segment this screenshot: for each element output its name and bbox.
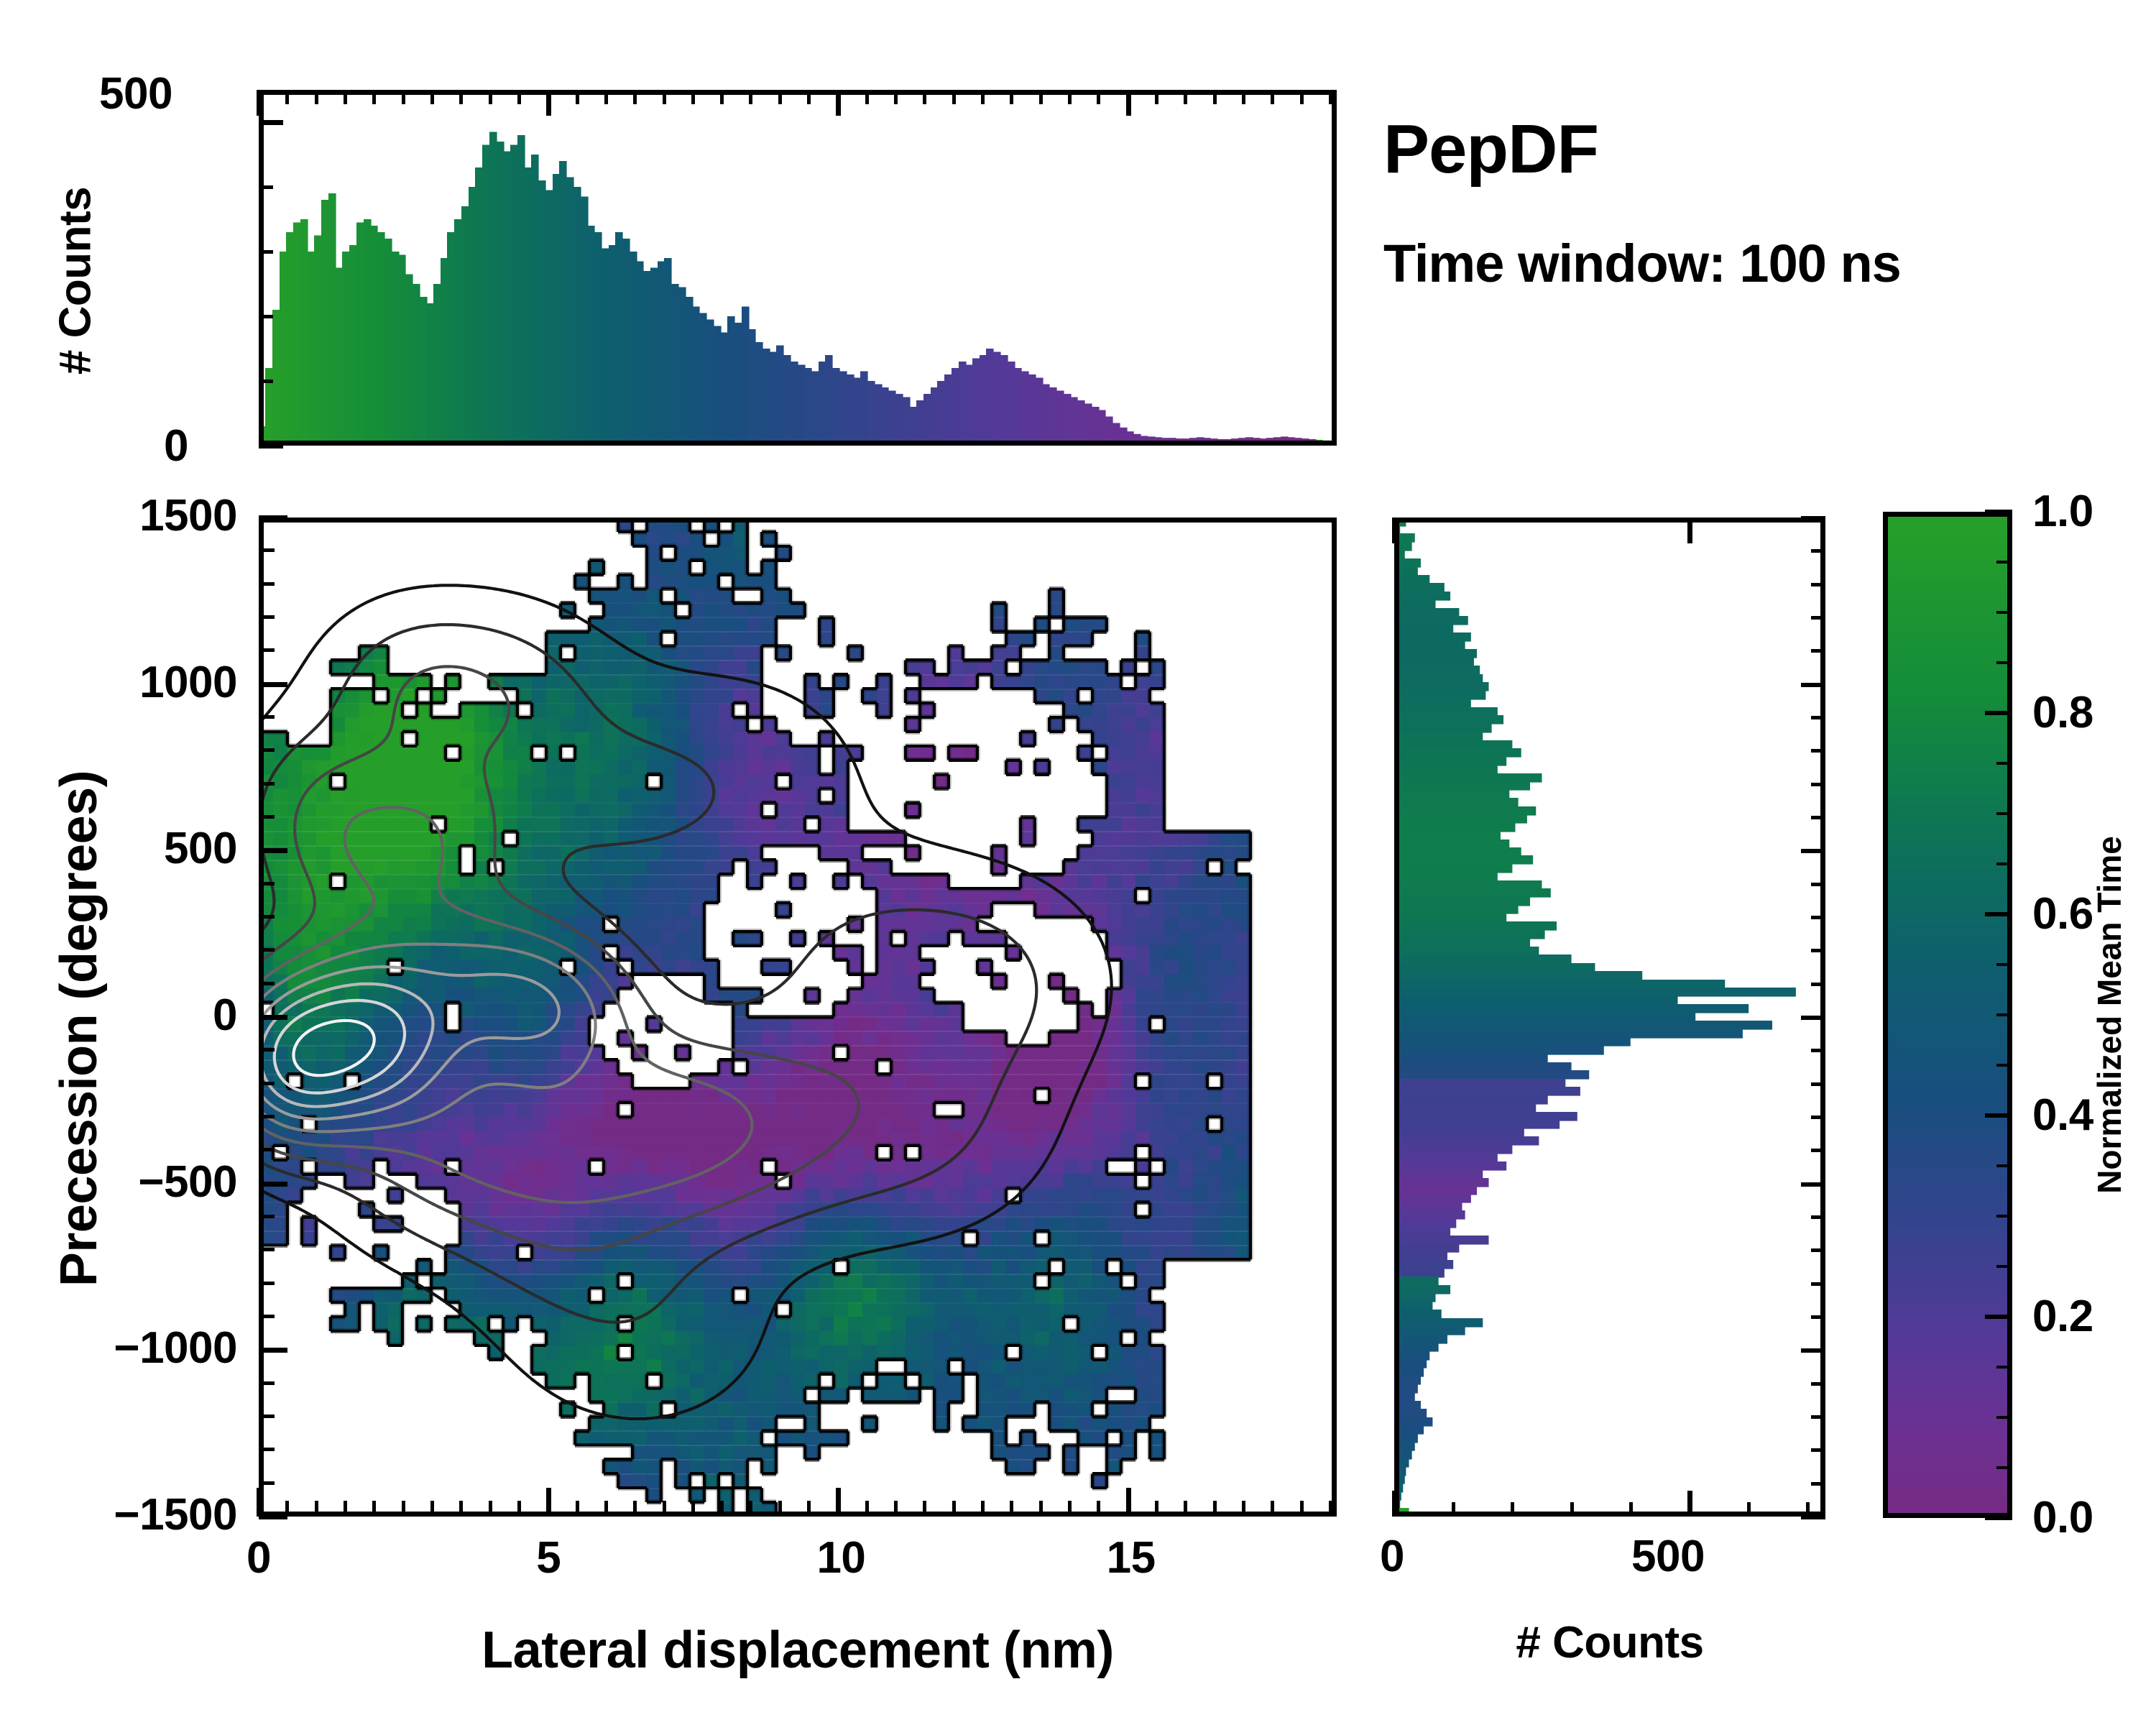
main-ytick-major — [259, 682, 287, 687]
main-xtick-minor — [894, 1501, 898, 1517]
top-panel-ylabel: # Counts — [50, 166, 101, 396]
top-ytick-minor — [259, 250, 273, 254]
right-xtick-major-top — [1687, 517, 1692, 543]
top-xtick-minor — [1271, 90, 1274, 104]
main-xtick-minor — [1010, 1501, 1013, 1517]
right-ytick-minor — [1811, 1315, 1825, 1319]
top-xtick-minor — [865, 90, 869, 104]
right-ytick-major — [1801, 683, 1825, 687]
main-xtick-minor — [1068, 1501, 1072, 1517]
main-ytick-minor — [259, 1248, 275, 1251]
colorbar-tick-minor — [1996, 1164, 2012, 1167]
top-xtick-minor — [1068, 90, 1072, 104]
colorbar-tick-label: 0.0 — [2032, 1492, 2093, 1543]
colorbar-tick-minor — [1996, 1215, 2012, 1218]
right-ytick-minor — [1811, 716, 1825, 719]
figure-root: 0 500 # Counts PepDF Time window: 100 ns… — [0, 0, 2156, 1725]
top-xtick-major — [257, 90, 262, 116]
main-ytick-minor — [259, 1048, 275, 1052]
right-xtick-minor — [1452, 1502, 1455, 1517]
colorbar-tick-minor — [1996, 1013, 2012, 1016]
right-panel-xlabel: # Counts — [1394, 1617, 1825, 1668]
top-xtick-minor — [749, 90, 752, 104]
colorbar-tick-label: 0.6 — [2032, 888, 2093, 939]
colorbar-tick-minor — [1996, 1265, 2012, 1268]
top-xtick-minor — [315, 90, 318, 104]
colorbar-tick-label: 0.2 — [2032, 1291, 2093, 1342]
main-xtick-minor — [517, 1501, 521, 1517]
main-xtick-label: 0 — [237, 1532, 280, 1583]
top-ytick-major — [259, 443, 283, 448]
main-xtick-minor — [691, 1501, 695, 1517]
right-ytick-minor — [1811, 783, 1825, 786]
right-ytick-major — [1801, 1348, 1825, 1353]
colorbar-tick-minor — [1996, 1064, 2012, 1067]
colorbar-label: Normalized Mean Time — [2090, 836, 2129, 1194]
colorbar-tick-minor — [1996, 661, 2012, 664]
colorbar-tick-label: 0.8 — [2032, 687, 2093, 738]
main-panel-ylabel: Precession (degrees) — [50, 489, 109, 1568]
top-xtick-minor — [1010, 90, 1013, 104]
top-histogram-canvas — [259, 90, 1337, 446]
main-ytick-major — [259, 1514, 287, 1519]
colorbar-tick-major — [1985, 1516, 2012, 1520]
main-ytick-minor — [259, 1215, 275, 1218]
main-xtick-minor — [430, 1501, 434, 1517]
main-xtick-minor — [1329, 1501, 1332, 1517]
top-ytick-label-500: 500 — [99, 68, 172, 119]
colorbar-tick-major — [1985, 711, 2012, 715]
colorbar-tick-major — [1985, 912, 2012, 916]
top-xtick-minor — [344, 90, 347, 104]
right-xtick-major — [1392, 1491, 1397, 1517]
main-ytick-minor — [259, 915, 275, 919]
top-xtick-minor — [923, 90, 926, 104]
right-xtick-label-500: 500 — [1631, 1531, 1705, 1582]
top-xtick-minor — [285, 90, 289, 104]
top-xtick-minor — [459, 90, 463, 104]
colorbar-tick-minor — [1996, 963, 2012, 966]
main-xtick-minor — [1184, 1501, 1187, 1517]
right-xtick-major-top — [1392, 517, 1397, 543]
right-ytick-major — [1801, 1016, 1825, 1020]
main-xtick-minor — [489, 1501, 492, 1517]
top-xtick-minor — [807, 90, 811, 104]
main-xtick-major — [836, 1488, 841, 1517]
colorbar-tick-major — [1985, 1315, 2012, 1319]
right-xtick-minor — [1629, 1502, 1633, 1517]
top-xtick-minor — [604, 90, 608, 104]
joint-heatmap-panel — [259, 517, 1337, 1517]
right-ytick-minor — [1811, 1149, 1825, 1152]
top-xtick-minor — [633, 90, 637, 104]
main-xtick-minor — [459, 1501, 463, 1517]
right-ytick-major — [1801, 1182, 1825, 1187]
main-ytick-minor — [259, 615, 275, 619]
colorbar-tick-major — [1985, 1113, 2012, 1118]
main-ytick-major — [259, 1348, 287, 1353]
right-xtick-minor — [1511, 1502, 1514, 1517]
colorbar-frame — [1883, 512, 2012, 1518]
right-ytick-minor — [1811, 583, 1825, 586]
main-ytick-minor — [259, 882, 275, 885]
right-ytick-minor — [1811, 916, 1825, 919]
top-xtick-minor — [1097, 90, 1100, 104]
main-ytick-minor — [259, 1481, 275, 1485]
right-xtick-label-0: 0 — [1380, 1531, 1404, 1582]
main-ytick-minor — [259, 782, 275, 786]
right-histogram-canvas — [1394, 517, 1825, 1517]
main-ytick-major — [259, 848, 287, 853]
main-xtick-major — [1126, 1488, 1131, 1517]
main-ytick-major — [259, 1182, 287, 1187]
right-ytick-minor — [1811, 1082, 1825, 1086]
main-xtick-minor — [778, 1501, 782, 1517]
main-xtick-minor — [1097, 1501, 1100, 1517]
main-ytick-minor — [259, 548, 275, 552]
right-ytick-minor — [1811, 616, 1825, 620]
right-ytick-minor — [1811, 983, 1825, 986]
right-ytick-minor — [1811, 883, 1825, 886]
top-xtick-minor — [981, 90, 985, 104]
top-xtick-minor — [1329, 90, 1332, 104]
top-ytick-minor — [259, 379, 273, 383]
main-xtick-minor — [315, 1501, 318, 1517]
top-xtick-minor — [576, 90, 579, 104]
main-xtick-minor — [952, 1501, 956, 1517]
top-xtick-minor — [1155, 90, 1158, 104]
colorbar-tick-minor — [1996, 1416, 2012, 1419]
main-ytick-minor — [259, 715, 275, 719]
top-ytick-minor — [259, 185, 273, 189]
top-xtick-minor — [663, 90, 666, 104]
right-ytick-minor — [1811, 1115, 1825, 1119]
main-xtick-minor — [720, 1501, 724, 1517]
figure-subtitle: Time window: 100 ns — [1383, 237, 1901, 290]
main-xtick-minor — [1271, 1501, 1274, 1517]
colorbar-tick-minor — [1996, 862, 2012, 865]
top-xtick-major — [546, 90, 551, 116]
colorbar-tick-label: 1.0 — [2032, 486, 2093, 537]
colorbar-tick-major — [1985, 510, 2012, 514]
right-ytick-minor — [1811, 1382, 1825, 1386]
right-ytick-minor — [1811, 549, 1825, 553]
right-ytick-minor — [1811, 1049, 1825, 1052]
colorbar-tick-minor — [1996, 762, 2012, 765]
top-xtick-minor — [1213, 90, 1217, 104]
top-xtick-minor — [952, 90, 956, 104]
top-xtick-minor — [778, 90, 782, 104]
top-ytick-major — [259, 120, 283, 125]
main-xtick-minor — [633, 1501, 637, 1517]
main-panel-xlabel: Lateral displacement (nm) — [259, 1621, 1337, 1680]
right-ytick-major — [1801, 516, 1825, 520]
top-xtick-minor — [402, 90, 405, 104]
main-ytick-minor — [259, 648, 275, 652]
colorbar-tick-minor — [1996, 1466, 2012, 1469]
right-ytick-minor — [1811, 649, 1825, 653]
top-xtick-minor — [372, 90, 376, 104]
main-ytick-minor — [259, 1448, 275, 1451]
top-xtick-minor — [1184, 90, 1187, 104]
right-ytick-major — [1801, 1515, 1825, 1519]
colorbar-tick-minor — [1996, 561, 2012, 563]
main-ytick-minor — [259, 1082, 275, 1085]
main-xtick-minor — [923, 1501, 926, 1517]
right-ytick-major — [1801, 849, 1825, 853]
main-ytick-minor — [259, 1315, 275, 1318]
main-xtick-minor — [1039, 1501, 1043, 1517]
colorbar — [1883, 512, 2012, 1518]
main-ytick-minor — [259, 748, 275, 752]
top-xtick-minor — [1242, 90, 1245, 104]
main-xtick-minor — [372, 1501, 376, 1517]
top-xtick-minor — [1039, 90, 1043, 104]
right-ytick-minor — [1811, 816, 1825, 819]
main-ytick-minor — [259, 1148, 275, 1151]
right-ytick-minor — [1811, 1482, 1825, 1486]
main-ytick-minor — [259, 582, 275, 586]
right-ytick-minor — [1811, 749, 1825, 753]
colorbar-tick-minor — [1996, 611, 2012, 614]
top-xtick-minor — [517, 90, 521, 104]
density-contour-canvas — [259, 517, 1337, 1517]
top-marginal-histogram-panel — [259, 90, 1337, 446]
main-xtick-major — [546, 1488, 551, 1517]
main-ytick-minor — [259, 815, 275, 819]
main-xtick-minor — [749, 1501, 752, 1517]
colorbar-tick-minor — [1996, 812, 2012, 815]
main-xtick-major — [257, 1488, 262, 1517]
main-xtick-minor — [1300, 1501, 1304, 1517]
main-ytick-minor — [259, 1381, 275, 1385]
main-xtick-minor — [1242, 1501, 1245, 1517]
right-marginal-histogram-panel — [1394, 517, 1825, 1517]
top-xtick-minor — [720, 90, 724, 104]
main-xtick-minor — [576, 1501, 579, 1517]
right-ytick-minor — [1811, 949, 1825, 952]
top-xtick-minor — [430, 90, 434, 104]
right-ytick-minor — [1811, 1248, 1825, 1252]
top-xtick-minor — [691, 90, 695, 104]
right-xtick-minor — [1806, 1502, 1810, 1517]
main-xtick-minor — [1155, 1501, 1158, 1517]
main-xtick-label: 15 — [1107, 1532, 1150, 1583]
main-ytick-minor — [259, 1282, 275, 1285]
main-ytick-minor — [259, 1414, 275, 1418]
colorbar-tick-label: 0.4 — [2032, 1090, 2093, 1141]
right-xtick-minor — [1747, 1502, 1751, 1517]
main-ytick-major — [259, 515, 287, 520]
main-xtick-minor — [402, 1501, 405, 1517]
top-xtick-minor — [894, 90, 898, 104]
main-xtick-minor — [663, 1501, 666, 1517]
top-ytick-label-0: 0 — [164, 420, 188, 471]
main-xtick-label: 5 — [527, 1532, 570, 1583]
main-xtick-minor — [344, 1501, 347, 1517]
main-xtick-minor — [1213, 1501, 1217, 1517]
figure-title: PepDF — [1383, 115, 1598, 184]
right-ytick-minor — [1811, 1415, 1825, 1419]
top-xtick-major — [1126, 90, 1131, 116]
right-ytick-minor — [1811, 1448, 1825, 1452]
main-ytick-major — [259, 1015, 287, 1020]
right-ytick-minor — [1811, 1215, 1825, 1219]
top-xtick-minor — [1300, 90, 1304, 104]
main-xtick-minor — [981, 1501, 985, 1517]
main-xtick-minor — [865, 1501, 869, 1517]
colorbar-tick-minor — [1996, 1366, 2012, 1368]
main-xtick-minor — [604, 1501, 608, 1517]
right-ytick-minor — [1811, 1282, 1825, 1286]
main-ytick-minor — [259, 1115, 275, 1118]
main-ytick-minor — [259, 948, 275, 952]
top-xtick-major — [836, 90, 841, 116]
top-ytick-minor — [259, 315, 273, 318]
right-xtick-minor — [1570, 1502, 1574, 1517]
main-ytick-minor — [259, 982, 275, 985]
main-xtick-label: 10 — [816, 1532, 860, 1583]
top-xtick-minor — [489, 90, 492, 104]
right-xtick-major — [1687, 1491, 1692, 1517]
main-xtick-minor — [807, 1501, 811, 1517]
